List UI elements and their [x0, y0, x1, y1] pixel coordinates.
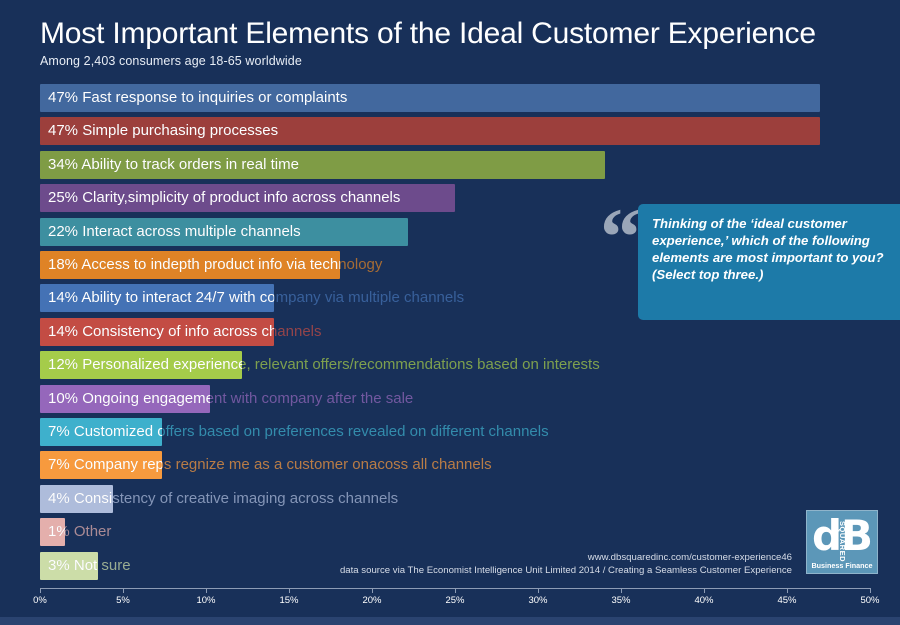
bar-label-inside: 18% Access to indepth product info via t…: [48, 251, 340, 279]
bar-label-clip: 14% Ability to interact 24/7 with compan…: [40, 284, 274, 312]
bar-label-inside: 7% Company reps regnize me as a customer…: [48, 451, 162, 479]
bar-row[interactable]: 34% Ability to track orders in real time…: [40, 151, 900, 179]
bar-label-clip: 12% Personalized experience, relevant of…: [40, 351, 242, 379]
bar-label-text: Ability to track orders in real time: [81, 156, 299, 173]
bar-percent: 14%: [48, 323, 82, 340]
bar-label-text: Clarity,simplicity of product info acros…: [82, 189, 400, 206]
bar-label-clip: 7% Company reps regnize me as a customer…: [40, 451, 162, 479]
x-axis-tick: [40, 588, 41, 593]
bar-percent: 4%: [48, 490, 74, 507]
bar-label-clip: 25% Clarity,simplicity of product info a…: [40, 184, 455, 212]
source-url[interactable]: www.dbsquaredinc.com/customer-experience…: [588, 552, 792, 563]
bar-percent: 47%: [48, 122, 82, 139]
bar-label-inside: 47% Simple purchasing processes: [48, 117, 278, 145]
header: Most Important Elements of the Ideal Cus…: [40, 18, 880, 68]
bar-label-text: Customized offers based on preferences r…: [74, 423, 162, 440]
bar-label-clip: 4% Consistency of creative imaging acros…: [40, 485, 113, 513]
bar-label-text: Access to indepth product info via techn…: [81, 256, 340, 273]
bar-label-text: Ability to interact 24/7 with company vi…: [81, 289, 274, 306]
x-axis-tick-label: 20%: [362, 595, 381, 606]
bar-percent: 7%: [48, 456, 74, 473]
x-axis-tick: [538, 588, 539, 593]
x-axis-tick: [206, 588, 207, 593]
bottom-frame: [0, 617, 900, 625]
bar-label-text: Consistency of info across channels: [82, 323, 274, 340]
bar-row[interactable]: 12% Personalized experience, relevant of…: [40, 351, 900, 379]
bar-label-inside: 34% Ability to track orders in real time: [48, 151, 299, 179]
x-axis-tick-label: 5%: [116, 595, 130, 606]
bar-label-inside: 22% Interact across multiple channels: [48, 218, 301, 246]
bar-label-inside: 14% Consistency of info across channels: [48, 318, 274, 346]
bar-label-clip: 10% Ongoing engagement with company afte…: [40, 385, 210, 413]
bar-row[interactable]: 14% Consistency of info across channels1…: [40, 318, 900, 346]
bar-row[interactable]: 47% Fast response to inquiries or compla…: [40, 84, 900, 112]
bar-percent: 47%: [48, 89, 82, 106]
bar-label-inside: 7% Customized offers based on preference…: [48, 418, 162, 446]
bar-label-text: Personalized experience, relevant offers…: [82, 356, 242, 373]
bar-row[interactable]: 1% Other1% Other: [40, 518, 900, 546]
bar-label-clip: 14% Consistency of info across channels: [40, 318, 274, 346]
source-attribution: data source via The Economist Intelligen…: [340, 565, 792, 576]
x-axis-tick: [372, 588, 373, 593]
quote-mark-icon: “: [600, 196, 635, 278]
bar-label-inside: 10% Ongoing engagement with company afte…: [48, 385, 210, 413]
bar-label-inside: 3% Not sure: [48, 552, 98, 580]
bar-label-clip: 22% Interact across multiple channels: [40, 218, 408, 246]
bar-row[interactable]: 10% Ongoing engagement with company afte…: [40, 385, 900, 413]
bar-label-text: Consistency of creative imaging across c…: [74, 490, 398, 507]
x-axis-tick-label: 0%: [33, 595, 47, 606]
bar-row[interactable]: 7% Company reps regnize me as a customer…: [40, 451, 900, 479]
bar-label-inside: 47% Fast response to inquiries or compla…: [48, 84, 347, 112]
bar-percent: 7%: [48, 423, 74, 440]
bar-label-text: Consistency of creative imaging across c…: [74, 490, 113, 507]
bar-label-clip: 18% Access to indepth product info via t…: [40, 251, 340, 279]
logo-letter-b: B: [841, 515, 873, 557]
page-subtitle: Among 2,403 consumers age 18-65 worldwid…: [40, 54, 880, 68]
x-axis-tick: [787, 588, 788, 593]
dbsquared-logo[interactable]: d SQUARED B Business Finance: [806, 510, 878, 574]
x-axis-tick-label: 10%: [196, 595, 215, 606]
bar-percent: 34%: [48, 156, 81, 173]
bar-row[interactable]: 47% Simple purchasing processes47% Simpl…: [40, 117, 900, 145]
bar-label-text: Simple purchasing processes: [82, 122, 278, 139]
bar-row[interactable]: 4% Consistency of creative imaging acros…: [40, 485, 900, 513]
bar-label-text: Not sure: [74, 557, 98, 574]
bar-label-inside: 4% Consistency of creative imaging acros…: [48, 485, 113, 513]
infographic-canvas: Most Important Elements of the Ideal Cus…: [0, 0, 900, 625]
x-axis-tick-label: 45%: [777, 595, 796, 606]
bar-percent: 1%: [48, 523, 65, 540]
bar-label-text: Other: [74, 523, 112, 540]
bar-label-clip: 3% Not sure: [40, 552, 98, 580]
logo-tagline: Business Finance: [807, 561, 877, 570]
x-axis-tick: [123, 588, 124, 593]
x-axis-tick: [621, 588, 622, 593]
bar-percent: 3%: [48, 557, 74, 574]
bar-percent: 10%: [48, 390, 82, 407]
x-axis-tick: [870, 588, 871, 593]
x-axis-tick-label: 15%: [279, 595, 298, 606]
x-axis-tick-label: 50%: [860, 595, 879, 606]
bar-label-inside: 1% Other: [48, 518, 65, 546]
bar-percent: 14%: [48, 289, 81, 306]
bar-label-text: Fast response to inquiries or complaints: [82, 89, 347, 106]
x-axis-tick: [704, 588, 705, 593]
bar-label-inside: 25% Clarity,simplicity of product info a…: [48, 184, 400, 212]
quote-callout: Thinking of the ‘ideal customer experien…: [638, 204, 900, 320]
bar-label-inside: 12% Personalized experience, relevant of…: [48, 351, 242, 379]
x-axis-tick-label: 35%: [611, 595, 630, 606]
x-axis: 0%5%10%15%20%25%30%35%40%45%50%: [0, 588, 900, 616]
bar-label-clip: 47% Fast response to inquiries or compla…: [40, 84, 820, 112]
bar-label-clip: 1% Other: [40, 518, 65, 546]
bar-label-clip: 7% Customized offers based on preference…: [40, 418, 162, 446]
x-axis-tick: [455, 588, 456, 593]
bar-label-clip: 47% Simple purchasing processes: [40, 117, 820, 145]
bar-label-clip: 34% Ability to track orders in real time: [40, 151, 605, 179]
bar-label-text: Interact across multiple channels: [82, 223, 300, 240]
quote-text: Thinking of the ‘ideal customer experien…: [652, 216, 900, 284]
bar-row[interactable]: 7% Customized offers based on preference…: [40, 418, 900, 446]
page-title: Most Important Elements of the Ideal Cus…: [40, 18, 880, 50]
bar-chart: 47% Fast response to inquiries or compla…: [0, 84, 900, 584]
bar-label-inside: 14% Ability to interact 24/7 with compan…: [48, 284, 274, 312]
bar-percent: 12%: [48, 356, 82, 373]
bar-label-text: Company reps regnize me as a customer on…: [74, 456, 162, 473]
x-axis-tick-label: 25%: [445, 595, 464, 606]
x-axis-tick-label: 30%: [528, 595, 547, 606]
x-axis-tick: [289, 588, 290, 593]
bar-percent: 18%: [48, 256, 81, 273]
bar-label-text: Ongoing engagement with company after th…: [82, 390, 210, 407]
x-axis-tick-label: 40%: [694, 595, 713, 606]
bar-percent: 25%: [48, 189, 82, 206]
bar-percent: 22%: [48, 223, 82, 240]
